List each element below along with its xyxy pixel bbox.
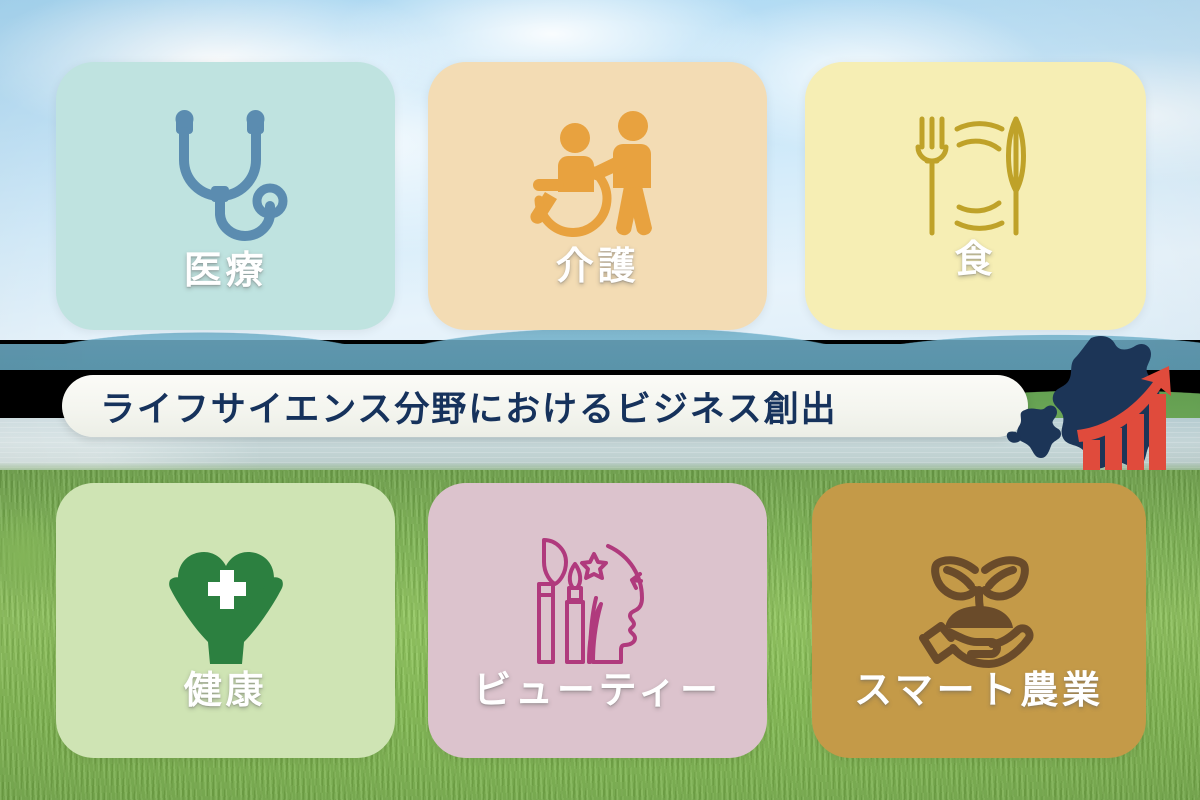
stethoscope-icon xyxy=(156,102,296,252)
makeup-brush-face-profile-icon xyxy=(528,532,668,672)
card-beauty[interactable]: ビューティー xyxy=(428,483,767,758)
banner-title: ライフサイエンス分野におけるビジネス創出 xyxy=(62,381,837,432)
kyushu-growth-emblem xyxy=(1005,332,1195,484)
card-label-food: 食 xyxy=(955,241,997,279)
card-health[interactable]: 健康 xyxy=(56,483,395,758)
hand-sprout-icon xyxy=(909,532,1049,672)
fork-plate-knife-icon xyxy=(912,113,1040,241)
card-label-nursing-care: 介護 xyxy=(556,248,640,286)
card-label-beauty: ビューティー xyxy=(473,672,722,710)
wheelchair-caregiver-icon xyxy=(523,106,673,248)
hands-heart-cross-icon xyxy=(156,532,296,672)
card-nursing-care[interactable]: 介護 xyxy=(428,62,767,330)
card-smart-agriculture[interactable]: スマート農業 xyxy=(812,483,1146,758)
card-food[interactable]: 食 xyxy=(805,62,1146,330)
card-label-health: 健康 xyxy=(184,672,268,710)
card-medical[interactable]: 医療 xyxy=(56,62,395,330)
banner: ライフサイエンス分野におけるビジネス創出 xyxy=(62,375,1028,437)
life-science-infographic: 医療 xyxy=(0,0,1200,800)
card-label-medical: 医療 xyxy=(184,252,268,290)
card-label-smart-agriculture: スマート農業 xyxy=(854,672,1104,710)
